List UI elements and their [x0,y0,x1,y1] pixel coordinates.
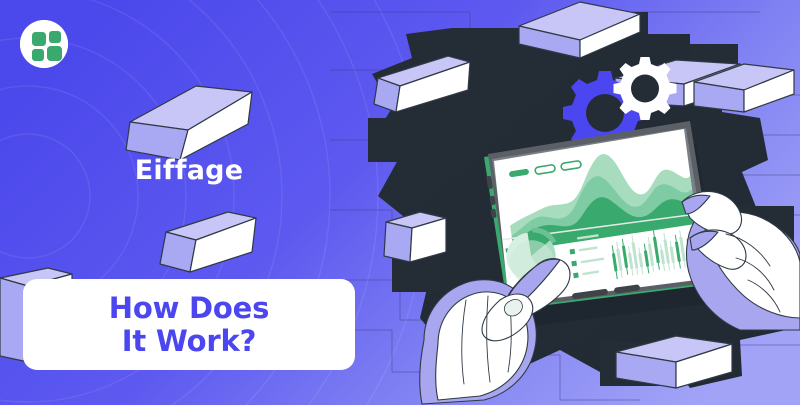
headline-line-2: It Work? [109,325,269,357]
four-squares-grid-icon [20,20,68,68]
brick [160,212,256,272]
brand-logo[interactable] [20,20,68,68]
brick [384,212,446,262]
headline-card: How Does It Work? [23,279,355,370]
brand-name: Eiffage [23,155,355,186]
brick [126,86,252,160]
headline-text: How Does It Work? [109,292,269,357]
headline-line-1: How Does [109,292,269,324]
gear-small-icon [614,57,677,120]
promo-banner: Eiffage How Does It Work? [0,0,800,405]
